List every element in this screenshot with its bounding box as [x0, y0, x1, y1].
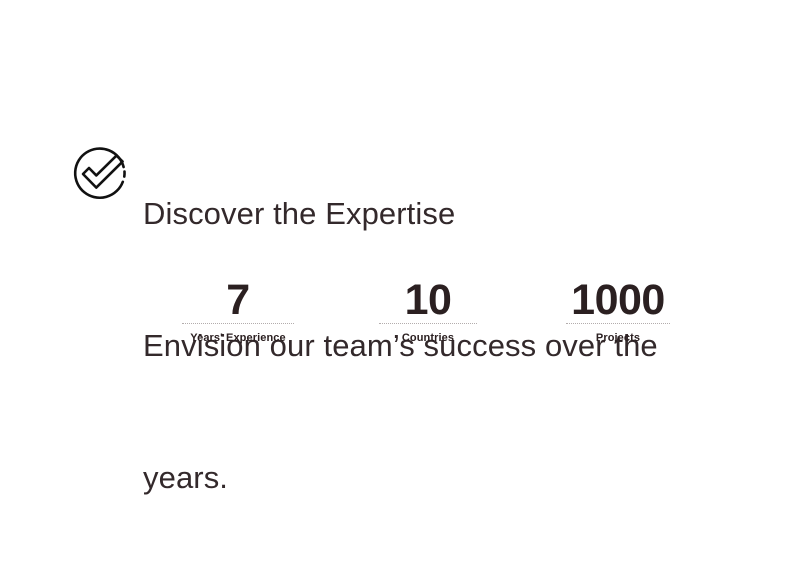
- stat-item-projects: 1000 Projects: [542, 278, 694, 345]
- stat-value: 7: [162, 278, 314, 322]
- check-circle-icon: [69, 143, 131, 205]
- stat-label: Years' Experience: [162, 332, 314, 345]
- stat-item-years-experience: 7 Years' Experience: [162, 278, 314, 345]
- stat-value: 10: [352, 278, 504, 322]
- heading-line-1: Discover the Expertise: [143, 192, 658, 236]
- stat-value: 1000: [542, 278, 694, 322]
- hero-section: Discover the Expertise Envision our team…: [0, 104, 800, 588]
- page-root: Discover the Expertise Envision our team…: [0, 0, 800, 480]
- heading-line-3: years.: [143, 456, 658, 500]
- stat-label: Countries: [352, 332, 504, 345]
- stat-label: Projects: [542, 332, 694, 345]
- stat-item-countries: 10 Countries: [352, 278, 504, 345]
- stats-row: 7 Years' Experience 10 Countries 1000 Pr…: [140, 278, 680, 345]
- page-title: Discover the Expertise Envision our team…: [143, 104, 658, 588]
